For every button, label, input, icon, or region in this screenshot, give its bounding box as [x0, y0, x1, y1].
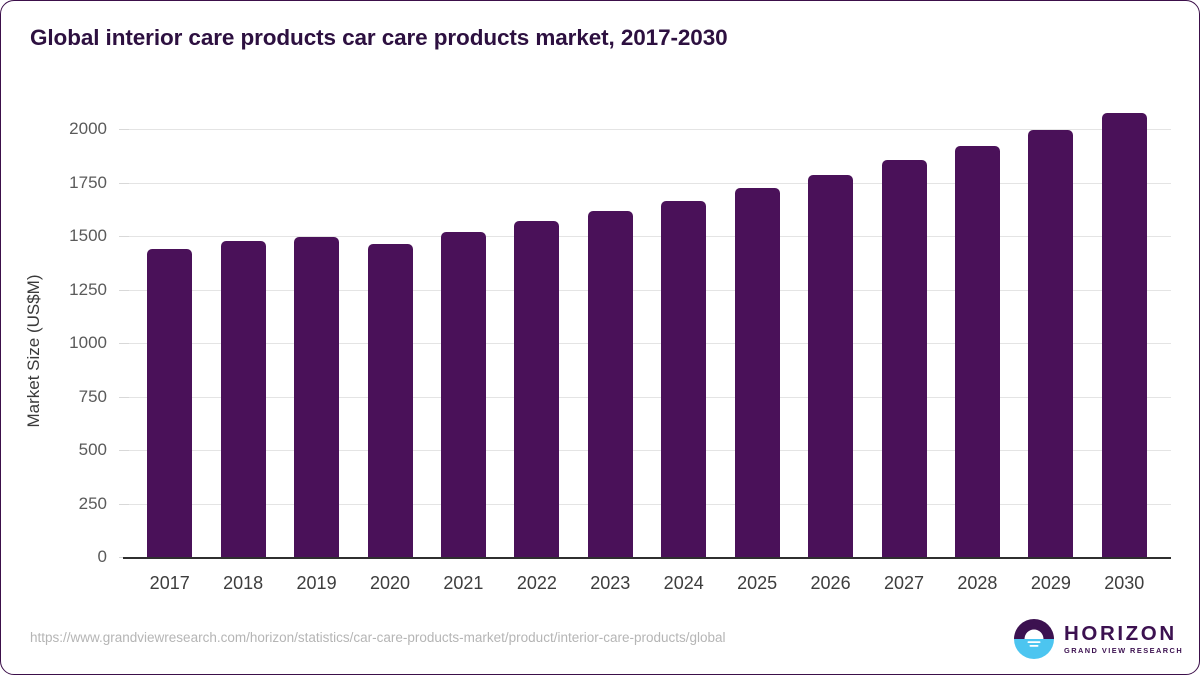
- x-axis-tick-label: 2025: [737, 573, 777, 594]
- x-axis-tick-label: 2022: [517, 573, 557, 594]
- x-axis-tick-label: 2030: [1104, 573, 1144, 594]
- horizon-logo[interactable]: HORIZON GRAND VIEW RESEARCH: [1013, 617, 1183, 661]
- chart-card: Global interior care products car care p…: [0, 0, 1200, 675]
- x-axis-tick-labels: 2017201820192020202120222023202420252026…: [1, 1, 1200, 675]
- x-axis-tick-label: 2027: [884, 573, 924, 594]
- x-axis-tick-label: 2023: [590, 573, 630, 594]
- x-axis-tick-label: 2019: [297, 573, 337, 594]
- x-axis-tick-label: 2028: [957, 573, 997, 594]
- x-axis-tick-label: 2020: [370, 573, 410, 594]
- x-axis-tick-label: 2017: [150, 573, 190, 594]
- x-axis-tick-label: 2026: [811, 573, 851, 594]
- logo-name: HORIZON: [1064, 624, 1183, 645]
- chart-plot-area: Market Size (US$M) 025050075010001250150…: [1, 1, 1200, 675]
- x-axis-tick-label: 2029: [1031, 573, 1071, 594]
- logo-tagline: GRAND VIEW RESEARCH: [1064, 647, 1183, 654]
- logo-text: HORIZON GRAND VIEW RESEARCH: [1064, 624, 1183, 655]
- x-axis-tick-label: 2018: [223, 573, 263, 594]
- source-url[interactable]: https://www.grandviewresearch.com/horizo…: [30, 630, 726, 645]
- x-axis-tick-label: 2024: [664, 573, 704, 594]
- horizon-sun-circle-icon: [1013, 618, 1055, 660]
- x-axis-tick-label: 2021: [443, 573, 483, 594]
